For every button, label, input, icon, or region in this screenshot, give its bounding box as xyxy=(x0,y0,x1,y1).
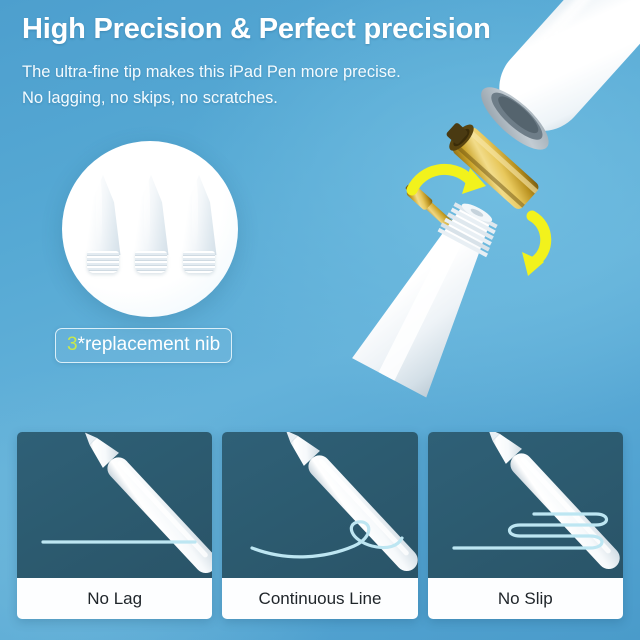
replacement-nib-showcase xyxy=(62,141,238,317)
panel-caption-no-lag: No Lag xyxy=(17,578,212,619)
nib-thread-base xyxy=(87,251,119,273)
feature-panel-no-lag[interactable]: No Lag xyxy=(17,432,212,619)
badge-label: *replacement nib xyxy=(78,334,221,355)
feature-panel-no-slip[interactable]: No Slip xyxy=(428,432,623,619)
rotation-arrow-upper xyxy=(412,168,486,194)
product-infographic: High Precision & Perfect precision The u… xyxy=(0,0,640,640)
badge-count: 3 xyxy=(67,334,78,355)
stylus-zigzag-line-icon xyxy=(428,432,623,578)
panel-image-no-lag xyxy=(17,432,212,578)
replacement-nib-2 xyxy=(128,175,174,273)
replacement-nib-badge: 3*replacement nib xyxy=(55,328,232,363)
panel-image-no-slip xyxy=(428,432,623,578)
nib-thread-base xyxy=(135,251,167,273)
stylus-curved-line-icon xyxy=(222,432,417,578)
nib-cone-icon xyxy=(80,175,126,255)
feature-panel-row: No Lag xyxy=(17,432,623,619)
panel-image-continuous-line xyxy=(222,432,417,578)
pen-illustration xyxy=(300,0,640,410)
nib-thread-base xyxy=(183,251,215,273)
panel-caption-continuous-line: Continuous Line xyxy=(222,578,417,619)
subtitle-line-2: No lagging, no skips, no scratches. xyxy=(22,89,278,108)
nib-cone-icon xyxy=(176,175,222,255)
replacement-nib-3 xyxy=(176,175,222,273)
panel-caption-no-slip: No Slip xyxy=(428,578,623,619)
feature-panel-continuous-line[interactable]: Continuous Line xyxy=(222,432,417,619)
stylus-exploded-view-graphic xyxy=(300,0,640,410)
replacement-nib-1 xyxy=(80,175,126,273)
rotation-arrow-lower xyxy=(522,216,546,276)
nib-cone-icon xyxy=(128,175,174,255)
stylus-straight-line-icon xyxy=(17,432,212,578)
